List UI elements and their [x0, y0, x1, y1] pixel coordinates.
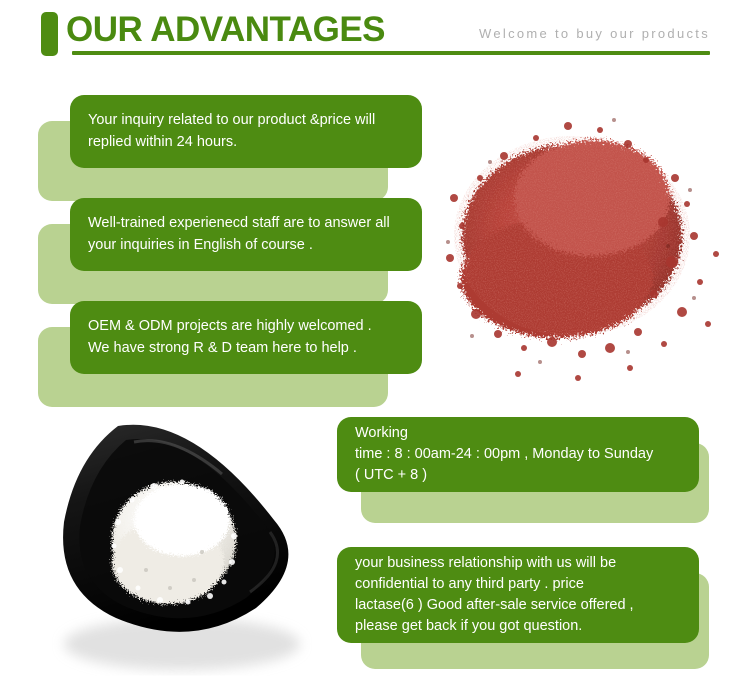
- header-tagline: Welcome to buy our products: [479, 26, 710, 41]
- our-advantages-page: OUR ADVANTAGES Welcome to buy our produc…: [0, 0, 750, 697]
- card-text: Working time : 8 : 00am-24 : 00pm , Mond…: [337, 423, 669, 486]
- title-underline-rule: [72, 51, 710, 55]
- red-powder-pile-photo: [432, 86, 742, 402]
- card-body: Working time : 8 : 00am-24 : 00pm , Mond…: [337, 417, 699, 492]
- card-body: OEM & ODM projects are highly welcomed .…: [70, 301, 422, 374]
- white-powder-bowl-illustration: [42, 412, 332, 684]
- card-body: your business relationship with us will …: [337, 547, 699, 643]
- page-title: OUR ADVANTAGES: [66, 8, 385, 52]
- card-text: Your inquiry related to our product &pri…: [70, 110, 391, 152]
- card-text: Well-trained experienecd staff are to an…: [70, 213, 406, 255]
- card-text: your business relationship with us will …: [337, 553, 650, 637]
- red-powder-illustration: [432, 86, 742, 402]
- card-text: OEM & ODM projects are highly welcomed .…: [70, 316, 388, 358]
- page-header: OUR ADVANTAGES Welcome to buy our produc…: [0, 0, 750, 70]
- title-accent-block: [41, 12, 58, 56]
- card-body: Well-trained experienecd staff are to an…: [70, 198, 422, 271]
- white-powder-bowl-photo: [42, 412, 332, 684]
- card-body: Your inquiry related to our product &pri…: [70, 95, 422, 168]
